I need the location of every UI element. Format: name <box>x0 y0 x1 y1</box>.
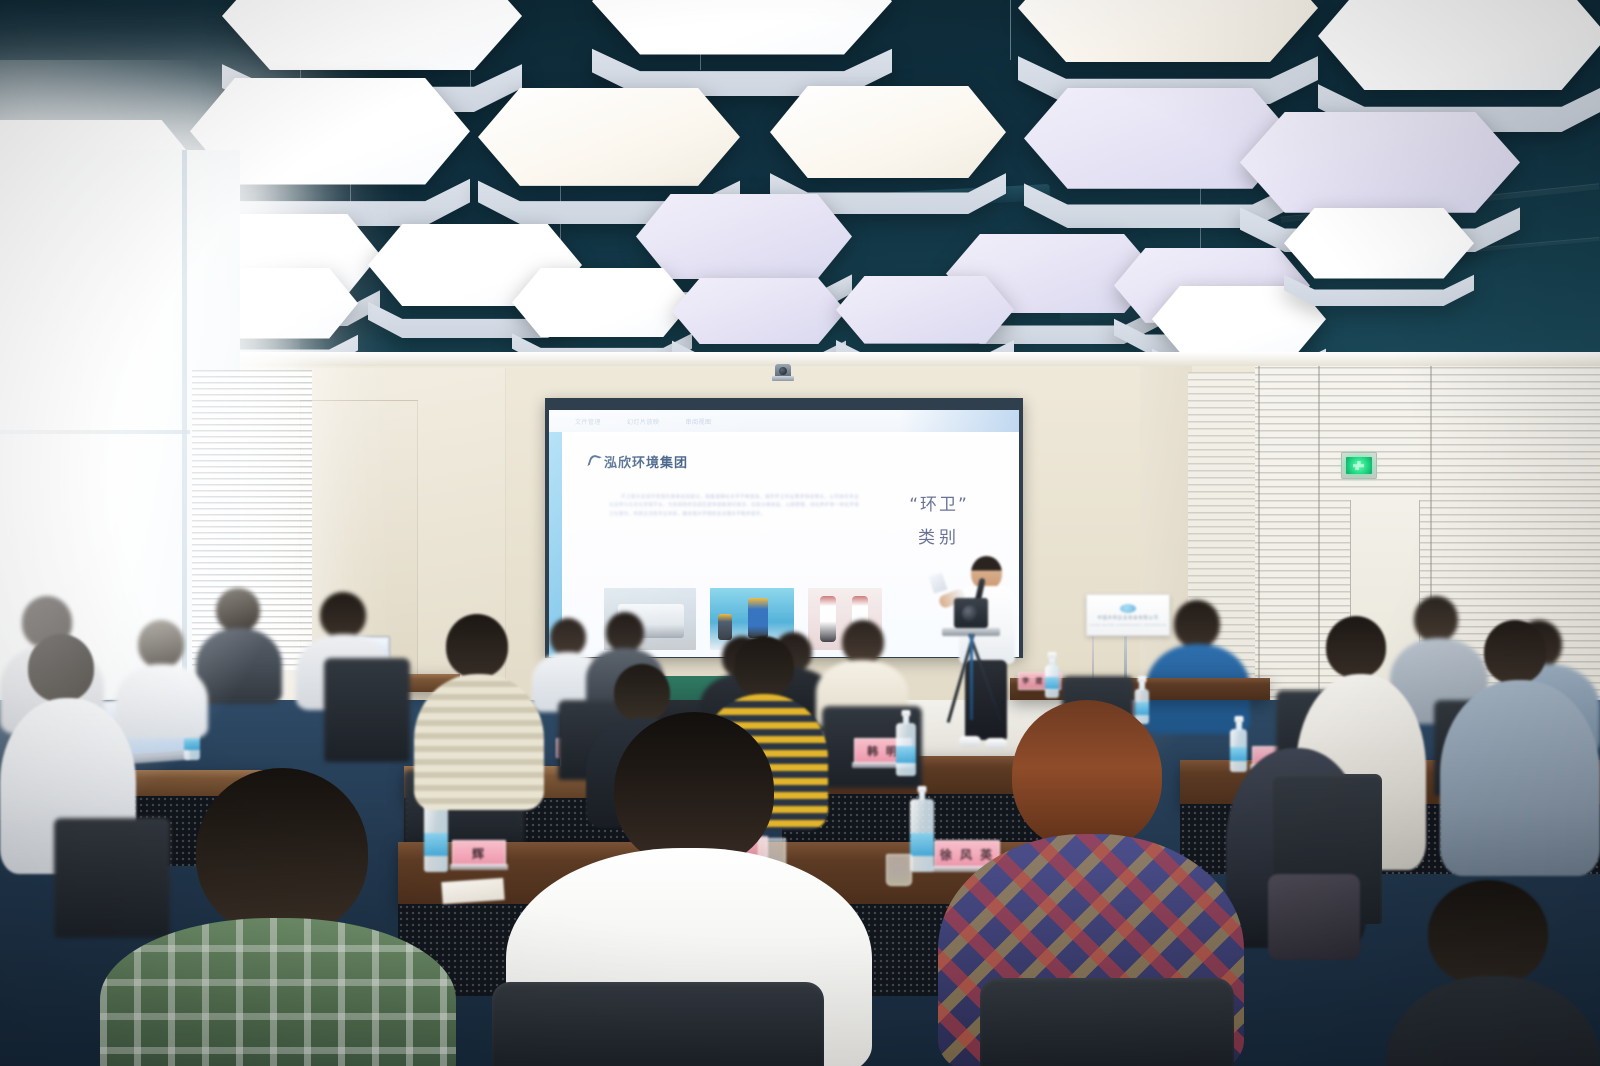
slide-app-toolbar: 文件管理 幻灯片放映 审阅视图 <box>549 410 1019 432</box>
slide-tab-0[interactable]: 文件管理 <box>575 417 601 426</box>
slide-logo: 泓欣环境集团 <box>589 452 688 471</box>
audience-member <box>1440 620 1600 870</box>
signboard-logo-icon <box>1120 604 1136 613</box>
audience-member <box>196 588 282 698</box>
slide-headline-line2: 类别 <box>879 523 999 548</box>
video-camera-icon <box>954 598 988 628</box>
ceiling-cornice <box>180 352 1600 366</box>
window-mullion <box>0 430 190 434</box>
toolbar-accent <box>899 410 1019 432</box>
audience-member-foreground <box>1386 880 1600 1066</box>
ceiling-camera-icon <box>772 364 794 384</box>
backpack <box>1268 874 1360 960</box>
ceiling-hex-panel <box>592 0 892 96</box>
slide-logo-text: 泓欣环境集团 <box>604 452 688 471</box>
office-chair <box>324 658 410 762</box>
slide-body-text: 环卫服务是城市管理的重要组成部分，随着城镇化水平不断提高，城市环卫作业需求持续增… <box>609 494 859 519</box>
water-bottle <box>896 710 916 776</box>
conference-room-photo: 文件管理 幻灯片放映 审阅视图 泓欣环境集团 环卫服务是城市管理的重要组成部分，… <box>0 0 1600 1066</box>
drinking-cup <box>886 854 912 886</box>
audience-member-foreground <box>100 768 456 1066</box>
water-bottle <box>910 786 934 872</box>
emergency-exit-icon <box>1341 452 1377 479</box>
slide-headline-line1: “环卫” <box>879 490 999 515</box>
slide-tab-1[interactable]: 幻灯片放映 <box>627 417 660 426</box>
water-bottle <box>1045 652 1059 698</box>
company-logo-icon <box>587 454 601 470</box>
office-chair <box>980 978 1234 1066</box>
ceiling-hex-panel <box>1284 208 1474 306</box>
ceiling-hex-panel <box>512 268 692 364</box>
name-card-text: 辉 <box>472 845 486 862</box>
panel-wire <box>1010 0 1011 60</box>
office-chair <box>492 982 824 1066</box>
slide-tab-2[interactable]: 审阅视图 <box>686 417 712 426</box>
name-card: 辉 <box>452 840 506 866</box>
presenter-head <box>971 556 1002 590</box>
slide-headline: “环卫” 类别 <box>879 490 999 548</box>
